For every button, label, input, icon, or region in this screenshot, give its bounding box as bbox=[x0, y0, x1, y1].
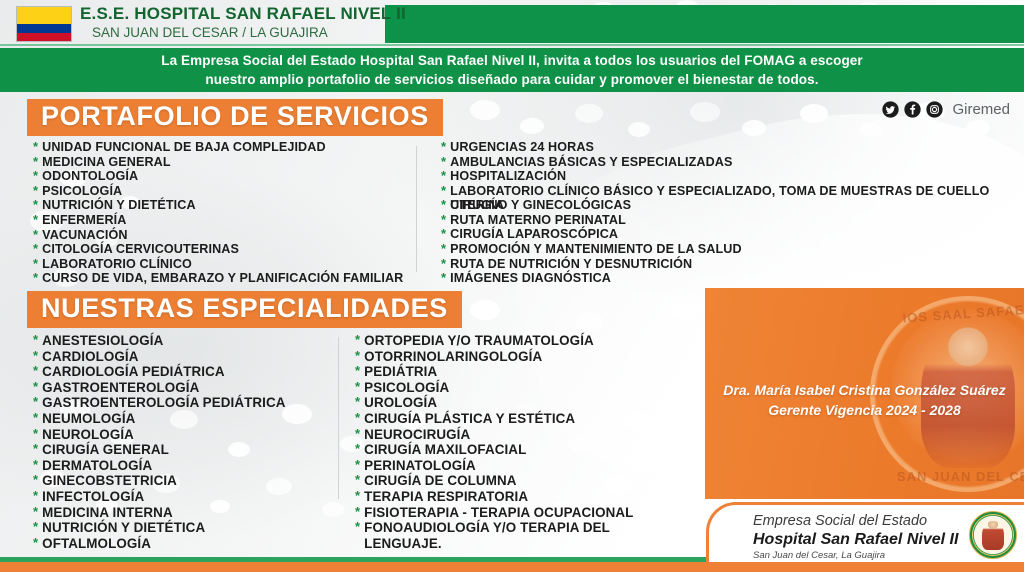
list-item-label: PERINATOLOGÍA bbox=[364, 458, 476, 474]
list-item-label: LABORATORIO CLÍNICO bbox=[42, 257, 192, 272]
list-item: *VACUNACIÓN bbox=[33, 228, 415, 243]
poster-page: E.S.E. HOSPITAL SAN RAFAEL NIVEL II SAN … bbox=[0, 0, 1024, 572]
list-item: *LABORATORIO CLÍNICO bbox=[33, 257, 415, 272]
list-item-label: TERAPIA RESPIRATORIA bbox=[364, 489, 528, 505]
list-item: *PSICOLOGÍA bbox=[33, 184, 415, 199]
asterisk-bullet-icon: * bbox=[441, 257, 446, 272]
list-item-label: DERMATOLOGÍA bbox=[42, 458, 152, 474]
asterisk-bullet-icon: * bbox=[33, 349, 38, 364]
asterisk-bullet-icon: * bbox=[441, 155, 446, 170]
list-item-label: AMBULANCIAS BÁSICAS Y ESPECIALIZADAS bbox=[450, 155, 732, 169]
list-item-label: CITOLOGÍA CERVICOUTERINAS bbox=[42, 242, 239, 257]
list-item: *ANESTESIOLOGÍA bbox=[33, 333, 363, 349]
list-item: *NEUROLOGÍA bbox=[33, 427, 363, 443]
list-item-label: CIRUGÍA PLÁSTICA Y ESTÉTICA bbox=[364, 411, 575, 427]
asterisk-bullet-icon: * bbox=[33, 505, 38, 520]
specialties-list-left: *ANESTESIOLOGÍA*CARDIOLOGÍA*CARDIOLOGÍA … bbox=[33, 333, 363, 551]
asterisk-bullet-icon: * bbox=[33, 184, 38, 199]
asterisk-bullet-icon: * bbox=[441, 140, 446, 155]
list-item-label: CIRUGÍA DE COLUMNA bbox=[364, 473, 516, 489]
list-item: *PEDIÁTRIA bbox=[355, 364, 685, 380]
hospital-seal-icon bbox=[969, 511, 1017, 559]
list-item: *CARDIOLOGÍA bbox=[33, 349, 363, 365]
list-item-label: PSICOLOGÍA bbox=[364, 380, 449, 396]
list-item-label: UROLOGÍA bbox=[364, 395, 437, 411]
list-item-label: PSICOLOGÍA bbox=[42, 184, 122, 199]
asterisk-bullet-icon: * bbox=[355, 411, 360, 426]
services-list-left: *UNIDAD FUNCIONAL DE BAJA COMPLEJIDAD*ME… bbox=[33, 140, 415, 286]
header-text-block: E.S.E. HOSPITAL SAN RAFAEL NIVEL II SAN … bbox=[80, 4, 406, 42]
list-item: *ENFERMERÍA bbox=[33, 213, 415, 228]
list-item-label: ODONTOLOGÍA bbox=[42, 169, 138, 184]
list-item: *NUTRICIÓN Y DIETÉTICA bbox=[33, 520, 363, 536]
list-item-label: GINECOBSTETRICIA bbox=[42, 473, 177, 489]
list-item: *CIRUGÍA LAPAROSCÓPICA bbox=[441, 227, 1016, 242]
asterisk-bullet-icon: * bbox=[355, 364, 360, 379]
list-item-label: MEDICINA GENERAL bbox=[42, 155, 170, 170]
list-item: *GASTROENTEROLOGÍA bbox=[33, 380, 363, 396]
asterisk-bullet-icon: * bbox=[441, 242, 446, 257]
footer-logo-card: Empresa Social del Estado Hospital San R… bbox=[706, 502, 1024, 565]
asterisk-bullet-icon: * bbox=[355, 520, 360, 535]
manager-panel: IOS SAAL SAFAEL SAN JUAN DEL CES Dra. Ma… bbox=[705, 288, 1024, 499]
asterisk-bullet-icon: * bbox=[33, 427, 38, 442]
list-item-label: NEUROCIRUGÍA bbox=[364, 427, 470, 443]
list-item: *CITOLOGÍA CERVICOUTERINAS bbox=[33, 242, 415, 257]
list-item: *ODONTOLOGÍA bbox=[33, 169, 415, 184]
list-item-label: ENFERMERÍA bbox=[42, 213, 126, 228]
list-item: *CIRUGÍA MAXILOFACIAL bbox=[355, 442, 685, 458]
list-item-label: OTORRINOLARINGOLOGÍA bbox=[364, 349, 542, 365]
list-item: *MEDICINA GENERAL bbox=[33, 155, 415, 170]
list-item: *FISIOTERAPIA - TERAPIA OCUPACIONAL bbox=[355, 505, 685, 521]
list-item-label: CIRUGÍA LAPAROSCÓPICA bbox=[450, 227, 618, 241]
asterisk-bullet-icon: * bbox=[33, 411, 38, 426]
invitation-banner: La Empresa Social del Estado Hospital Sa… bbox=[0, 48, 1024, 92]
list-item: *DERMATOLOGÍA bbox=[33, 458, 363, 474]
footer-line-2: Hospital San Rafael Nivel II bbox=[753, 530, 958, 549]
specialties-list-right: *ORTOPEDIA Y/O TRAUMATOLOGÍA*OTORRINOLAR… bbox=[355, 333, 685, 551]
list-item-label: OFTALMOLOGÍA bbox=[42, 536, 151, 552]
list-item: *CIRUGÍA PLÁSTICA Y ESTÉTICA bbox=[355, 411, 685, 427]
asterisk-bullet-icon: * bbox=[33, 364, 38, 379]
asterisk-bullet-icon: * bbox=[441, 198, 446, 213]
list-item: *PSICOLOGÍA bbox=[355, 380, 685, 396]
asterisk-bullet-icon: * bbox=[355, 380, 360, 395]
asterisk-bullet-icon: * bbox=[441, 169, 446, 184]
list-item-label: IMÁGENES DIAGNÓSTICA bbox=[450, 271, 611, 285]
asterisk-bullet-icon: * bbox=[33, 155, 38, 170]
list-item-label: NEUROLOGÍA bbox=[42, 427, 134, 443]
asterisk-bullet-icon: * bbox=[33, 536, 38, 551]
asterisk-bullet-icon: * bbox=[33, 473, 38, 488]
asterisk-bullet-icon: * bbox=[355, 395, 360, 410]
asterisk-bullet-icon: * bbox=[33, 257, 38, 272]
list-item-label: ORTOPEDIA Y/O TRAUMATOLOGÍA bbox=[364, 333, 594, 349]
twitter-icon[interactable] bbox=[882, 101, 899, 118]
list-item-label: INFECTOLOGÍA bbox=[42, 489, 144, 505]
list-item-label: MEDICINA INTERNA bbox=[42, 505, 173, 521]
list-item: *INFECTOLOGÍA bbox=[33, 489, 363, 505]
asterisk-bullet-icon: * bbox=[355, 458, 360, 473]
asterisk-bullet-icon: * bbox=[441, 271, 446, 286]
asterisk-bullet-icon: * bbox=[355, 473, 360, 488]
list-item: *RUTA MATERNO PERINATAL bbox=[441, 213, 1016, 228]
list-item-label: CURSO DE VIDA, EMBARAZO Y PLANIFICACIÓN … bbox=[42, 271, 403, 286]
asterisk-bullet-icon: * bbox=[33, 198, 38, 213]
list-item-label: NUTRICIÓN Y DIETÉTICA bbox=[42, 520, 205, 536]
manager-role: Gerente Vigencia 2024 - 2028 bbox=[705, 400, 1024, 420]
page-header: E.S.E. HOSPITAL SAN RAFAEL NIVEL II SAN … bbox=[0, 0, 1024, 48]
list-item: *LABORATORIO CLÍNICO BÁSICO Y ESPECIALIZ… bbox=[441, 184, 1016, 212]
list-item: *UROLOGÍA bbox=[355, 395, 685, 411]
header-divider bbox=[0, 44, 1024, 46]
list-item-label: FONOAUDIOLOGÍA Y/O TERAPIA DEL LENGUAJE. bbox=[364, 520, 685, 551]
list-item: *NUTRICIÓN Y DIETÉTICA bbox=[33, 198, 415, 213]
header-green-bar bbox=[385, 5, 1024, 43]
asterisk-bullet-icon: * bbox=[33, 140, 38, 155]
list-item: *IMÁGENES DIAGNÓSTICA bbox=[441, 271, 1016, 286]
list-item: *GASTROENTEROLOGÍA PEDIÁTRICA bbox=[33, 395, 363, 411]
asterisk-bullet-icon: * bbox=[33, 213, 38, 228]
list-item: *CIRUGÍA GENERAL bbox=[33, 442, 363, 458]
list-item: *RUTA DE NUTRICIÓN Y DESNUTRICIÓN bbox=[441, 257, 1016, 272]
manager-name-block: Dra. María Isabel Cristina González Suár… bbox=[705, 380, 1024, 420]
asterisk-bullet-icon: * bbox=[33, 458, 38, 473]
seal-top-text: IOS SAAL SAFAEL bbox=[870, 299, 1024, 328]
asterisk-bullet-icon: * bbox=[33, 520, 38, 535]
services-list-right: *URGENCIAS 24 HORAS*AMBULANCIAS BÁSICAS … bbox=[441, 140, 1016, 286]
list-item: *OTORRINOLARINGOLOGÍA bbox=[355, 349, 685, 365]
facebook-icon[interactable] bbox=[904, 101, 921, 118]
list-item-label: CIRUGÍA GENERAL bbox=[42, 442, 169, 458]
list-item-label: URGENCIAS 24 HORAS bbox=[450, 140, 594, 154]
section-title-portafolio: PORTAFOLIO DE SERVICIOS bbox=[27, 99, 443, 136]
list-item-label: CIRUGÍA bbox=[450, 198, 504, 212]
list-item: *FONOAUDIOLOGÍA Y/O TERAPIA DEL LENGUAJE… bbox=[355, 520, 685, 551]
asterisk-bullet-icon: * bbox=[33, 380, 38, 395]
footer-line-3: San Juan del Cesar, La Guajira bbox=[753, 549, 958, 562]
list-item: *PROMOCIÓN Y MANTENIMIENTO DE LA SALUD bbox=[441, 242, 1016, 257]
list-item: *OFTALMOLOGÍA bbox=[33, 536, 363, 552]
list-item-label: GASTROENTEROLOGÍA PEDIÁTRICA bbox=[42, 395, 285, 411]
list-item-label: UNIDAD FUNCIONAL DE BAJA COMPLEJIDAD bbox=[42, 140, 325, 155]
asterisk-bullet-icon: * bbox=[355, 505, 360, 520]
seal-bottom-text: SAN JUAN DEL CES bbox=[870, 469, 1024, 484]
list-item-label: HOSPITALIZACIÓN bbox=[450, 169, 566, 183]
asterisk-bullet-icon: * bbox=[355, 333, 360, 348]
instagram-icon[interactable] bbox=[926, 101, 943, 118]
list-item: *ORTOPEDIA Y/O TRAUMATOLOGÍA bbox=[355, 333, 685, 349]
banner-line-2: nuestro amplio portafolio de servicios d… bbox=[205, 70, 818, 89]
list-item: *CIRUGÍA DE COLUMNA bbox=[355, 473, 685, 489]
list-item-label: CIRUGÍA MAXILOFACIAL bbox=[364, 442, 526, 458]
asterisk-bullet-icon: * bbox=[33, 228, 38, 243]
list-item: *GINECOBSTETRICIA bbox=[33, 473, 363, 489]
asterisk-bullet-icon: * bbox=[355, 442, 360, 457]
list-item: *AMBULANCIAS BÁSICAS Y ESPECIALIZADAS bbox=[441, 155, 1016, 170]
list-item-label: NUTRICIÓN Y DIETÉTICA bbox=[42, 198, 195, 213]
asterisk-bullet-icon: * bbox=[355, 349, 360, 364]
asterisk-bullet-icon: * bbox=[33, 271, 38, 286]
list-item-label: CARDIOLOGÍA bbox=[42, 349, 138, 365]
list-item-label: RUTA MATERNO PERINATAL bbox=[450, 213, 626, 227]
social-handle[interactable]: Giremed bbox=[952, 101, 1010, 118]
asterisk-bullet-icon: * bbox=[33, 169, 38, 184]
footer-text-block: Empresa Social del Estado Hospital San R… bbox=[753, 513, 958, 562]
list-item-label: CARDIOLOGÍA PEDIÁTRICA bbox=[42, 364, 224, 380]
list-item-label: FISIOTERAPIA - TERAPIA OCUPACIONAL bbox=[364, 505, 633, 521]
list-item: *HOSPITALIZACIÓN bbox=[441, 169, 1016, 184]
header-title: E.S.E. HOSPITAL SAN RAFAEL NIVEL II bbox=[80, 4, 406, 24]
list-item-label: RUTA DE NUTRICIÓN Y DESNUTRICIÓN bbox=[450, 257, 692, 271]
list-item-label: VACUNACIÓN bbox=[42, 228, 127, 243]
asterisk-bullet-icon: * bbox=[441, 213, 446, 228]
list-item: *URGENCIAS 24 HORAS bbox=[441, 140, 1016, 155]
asterisk-bullet-icon: * bbox=[33, 489, 38, 504]
colombia-flag-icon bbox=[16, 6, 72, 42]
list-item-label: LABORATORIO CLÍNICO BÁSICO Y ESPECIALIZA… bbox=[450, 184, 1016, 212]
asterisk-bullet-icon: * bbox=[33, 242, 38, 257]
social-links[interactable]: Giremed bbox=[882, 101, 1010, 118]
list-item: *UNIDAD FUNCIONAL DE BAJA COMPLEJIDAD bbox=[33, 140, 415, 155]
section-title-especialidades: NUESTRAS ESPECIALIDADES bbox=[27, 291, 462, 328]
list-item-label: NEUMOLOGÍA bbox=[42, 411, 135, 427]
asterisk-bullet-icon: * bbox=[33, 442, 38, 457]
list-item-label: PEDIÁTRIA bbox=[364, 364, 437, 380]
banner-line-1: La Empresa Social del Estado Hospital Sa… bbox=[161, 51, 863, 70]
list-item-label: GASTROENTEROLOGÍA bbox=[42, 380, 199, 396]
list-item: *NEUMOLOGÍA bbox=[33, 411, 363, 427]
asterisk-bullet-icon: * bbox=[355, 427, 360, 442]
header-subtitle: SAN JUAN DEL CESAR / LA GUAJIRA bbox=[80, 24, 406, 42]
list-item: *CURSO DE VIDA, EMBARAZO Y PLANIFICACIÓN… bbox=[33, 271, 415, 286]
list-item: *TERAPIA RESPIRATORIA bbox=[355, 489, 685, 505]
footer-orange-bar bbox=[0, 562, 1024, 572]
asterisk-bullet-icon: * bbox=[441, 227, 446, 242]
services-column-divider bbox=[416, 146, 417, 272]
footer-line-1: Empresa Social del Estado bbox=[753, 513, 958, 530]
asterisk-bullet-icon: * bbox=[441, 184, 446, 199]
manager-name: Dra. María Isabel Cristina González Suár… bbox=[705, 380, 1024, 400]
asterisk-bullet-icon: * bbox=[33, 395, 38, 410]
list-item: *MEDICINA INTERNA bbox=[33, 505, 363, 521]
asterisk-bullet-icon: * bbox=[355, 489, 360, 504]
asterisk-bullet-icon: * bbox=[33, 333, 38, 348]
list-item-label: PROMOCIÓN Y MANTENIMIENTO DE LA SALUD bbox=[450, 242, 742, 256]
list-item-label: ANESTESIOLOGÍA bbox=[42, 333, 163, 349]
list-item: *CARDIOLOGÍA PEDIÁTRICA bbox=[33, 364, 363, 380]
list-item: *NEUROCIRUGÍA bbox=[355, 427, 685, 443]
list-item: *PERINATOLOGÍA bbox=[355, 458, 685, 474]
